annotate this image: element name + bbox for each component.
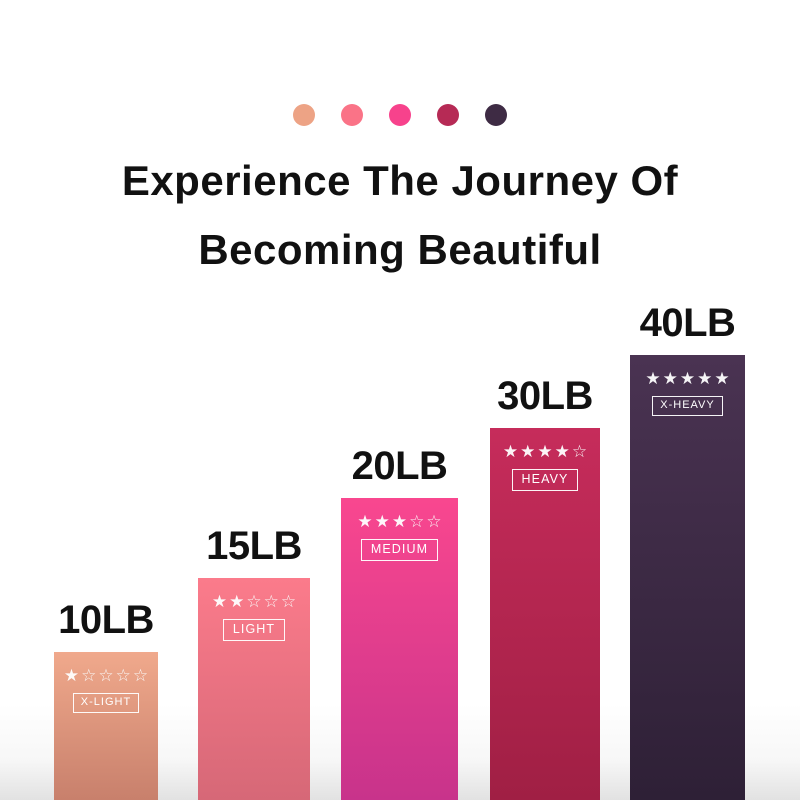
resistance-level-badge: X-HEAVY — [652, 396, 722, 416]
star-empty-icon: ☆ — [572, 443, 587, 460]
star-filled-icon: ★ — [680, 370, 695, 387]
star-filled-icon: ★ — [357, 513, 372, 530]
star-filled-icon: ★ — [520, 443, 535, 460]
bar-group-medium[interactable]: 20LB★★★☆☆MEDIUM — [341, 498, 458, 800]
bar-fill: ★★★☆☆MEDIUM — [341, 498, 458, 800]
star-filled-icon: ★ — [229, 593, 244, 610]
bar-fill: ★★★★☆HEAVY — [490, 428, 600, 800]
star-filled-icon: ★ — [663, 370, 678, 387]
star-rating: ★★★☆☆ — [357, 513, 441, 530]
bar-fill: ★☆☆☆☆X-LIGHT — [54, 652, 158, 800]
star-empty-icon: ☆ — [281, 593, 296, 610]
bar-weight-label: 40LB — [640, 301, 736, 346]
resistance-bar-chart: 10LB★☆☆☆☆X-LIGHT15LB★★☆☆☆LIGHT20LB★★★☆☆M… — [0, 0, 800, 800]
star-filled-icon: ★ — [375, 513, 390, 530]
star-filled-icon: ★ — [697, 370, 712, 387]
star-filled-icon: ★ — [645, 370, 660, 387]
star-empty-icon: ☆ — [264, 593, 279, 610]
star-empty-icon: ☆ — [133, 667, 148, 684]
resistance-level-badge: LIGHT — [223, 619, 285, 641]
bar-weight-label: 10LB — [58, 598, 154, 643]
resistance-level-badge: MEDIUM — [361, 539, 438, 561]
bar-fill: ★★☆☆☆LIGHT — [198, 578, 310, 800]
star-filled-icon: ★ — [555, 443, 570, 460]
star-filled-icon: ★ — [212, 593, 227, 610]
bar-group-x-heavy[interactable]: 40LB★★★★★X-HEAVY — [630, 355, 745, 800]
bar-fill: ★★★★★X-HEAVY — [630, 355, 745, 800]
bar-weight-label: 15LB — [206, 524, 302, 569]
resistance-level-badge: HEAVY — [512, 469, 579, 491]
star-empty-icon: ☆ — [409, 513, 424, 530]
star-rating: ★★★★★ — [645, 370, 729, 387]
star-rating: ★☆☆☆☆ — [64, 667, 148, 684]
bar-weight-label: 30LB — [497, 374, 593, 419]
star-filled-icon: ★ — [503, 443, 518, 460]
star-filled-icon: ★ — [537, 443, 552, 460]
bar-group-light[interactable]: 15LB★★☆☆☆LIGHT — [198, 578, 310, 800]
star-rating: ★★★★☆ — [503, 443, 587, 460]
star-filled-icon: ★ — [64, 667, 79, 684]
star-empty-icon: ☆ — [81, 667, 96, 684]
star-empty-icon: ☆ — [116, 667, 131, 684]
star-filled-icon: ★ — [714, 370, 729, 387]
bar-group-x-light[interactable]: 10LB★☆☆☆☆X-LIGHT — [54, 652, 158, 800]
bar-weight-label: 20LB — [352, 444, 448, 489]
star-empty-icon: ☆ — [426, 513, 441, 530]
star-filled-icon: ★ — [392, 513, 407, 530]
star-rating: ★★☆☆☆ — [212, 593, 296, 610]
bar-group-heavy[interactable]: 30LB★★★★☆HEAVY — [490, 428, 600, 800]
star-empty-icon: ☆ — [98, 667, 113, 684]
star-empty-icon: ☆ — [246, 593, 261, 610]
resistance-level-badge: X-LIGHT — [73, 693, 139, 713]
product-infographic-poster: Experience The Journey Of Becoming Beaut… — [0, 0, 800, 800]
